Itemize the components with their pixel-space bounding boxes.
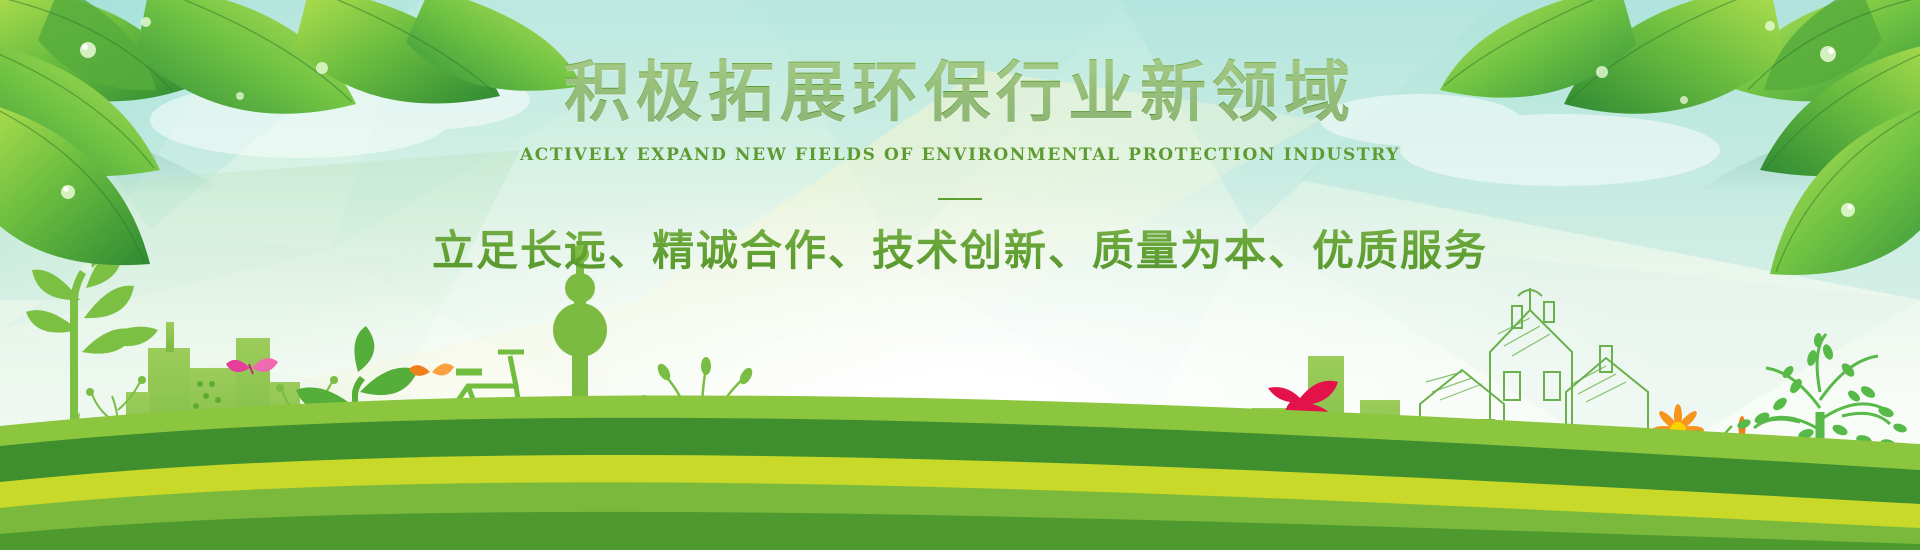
subtitle-english: ACTIVELY EXPAND NEW FIELDS OF ENVIRONMEN… [0,145,1920,165]
page-title: 积极拓展环保行业新领域 [0,55,1920,131]
banner-text-block: 积极拓展环保行业新领域 ACTIVELY EXPAND NEW FIELDS O… [0,0,1920,278]
tagline: 立足长远、精诚合作、技术创新、质量为本、优质服务 [0,217,1920,278]
divider-wrap [0,187,1920,197]
divider-line [938,198,982,200]
eco-banner: 积极拓展环保行业新领域 ACTIVELY EXPAND NEW FIELDS O… [0,0,1920,550]
